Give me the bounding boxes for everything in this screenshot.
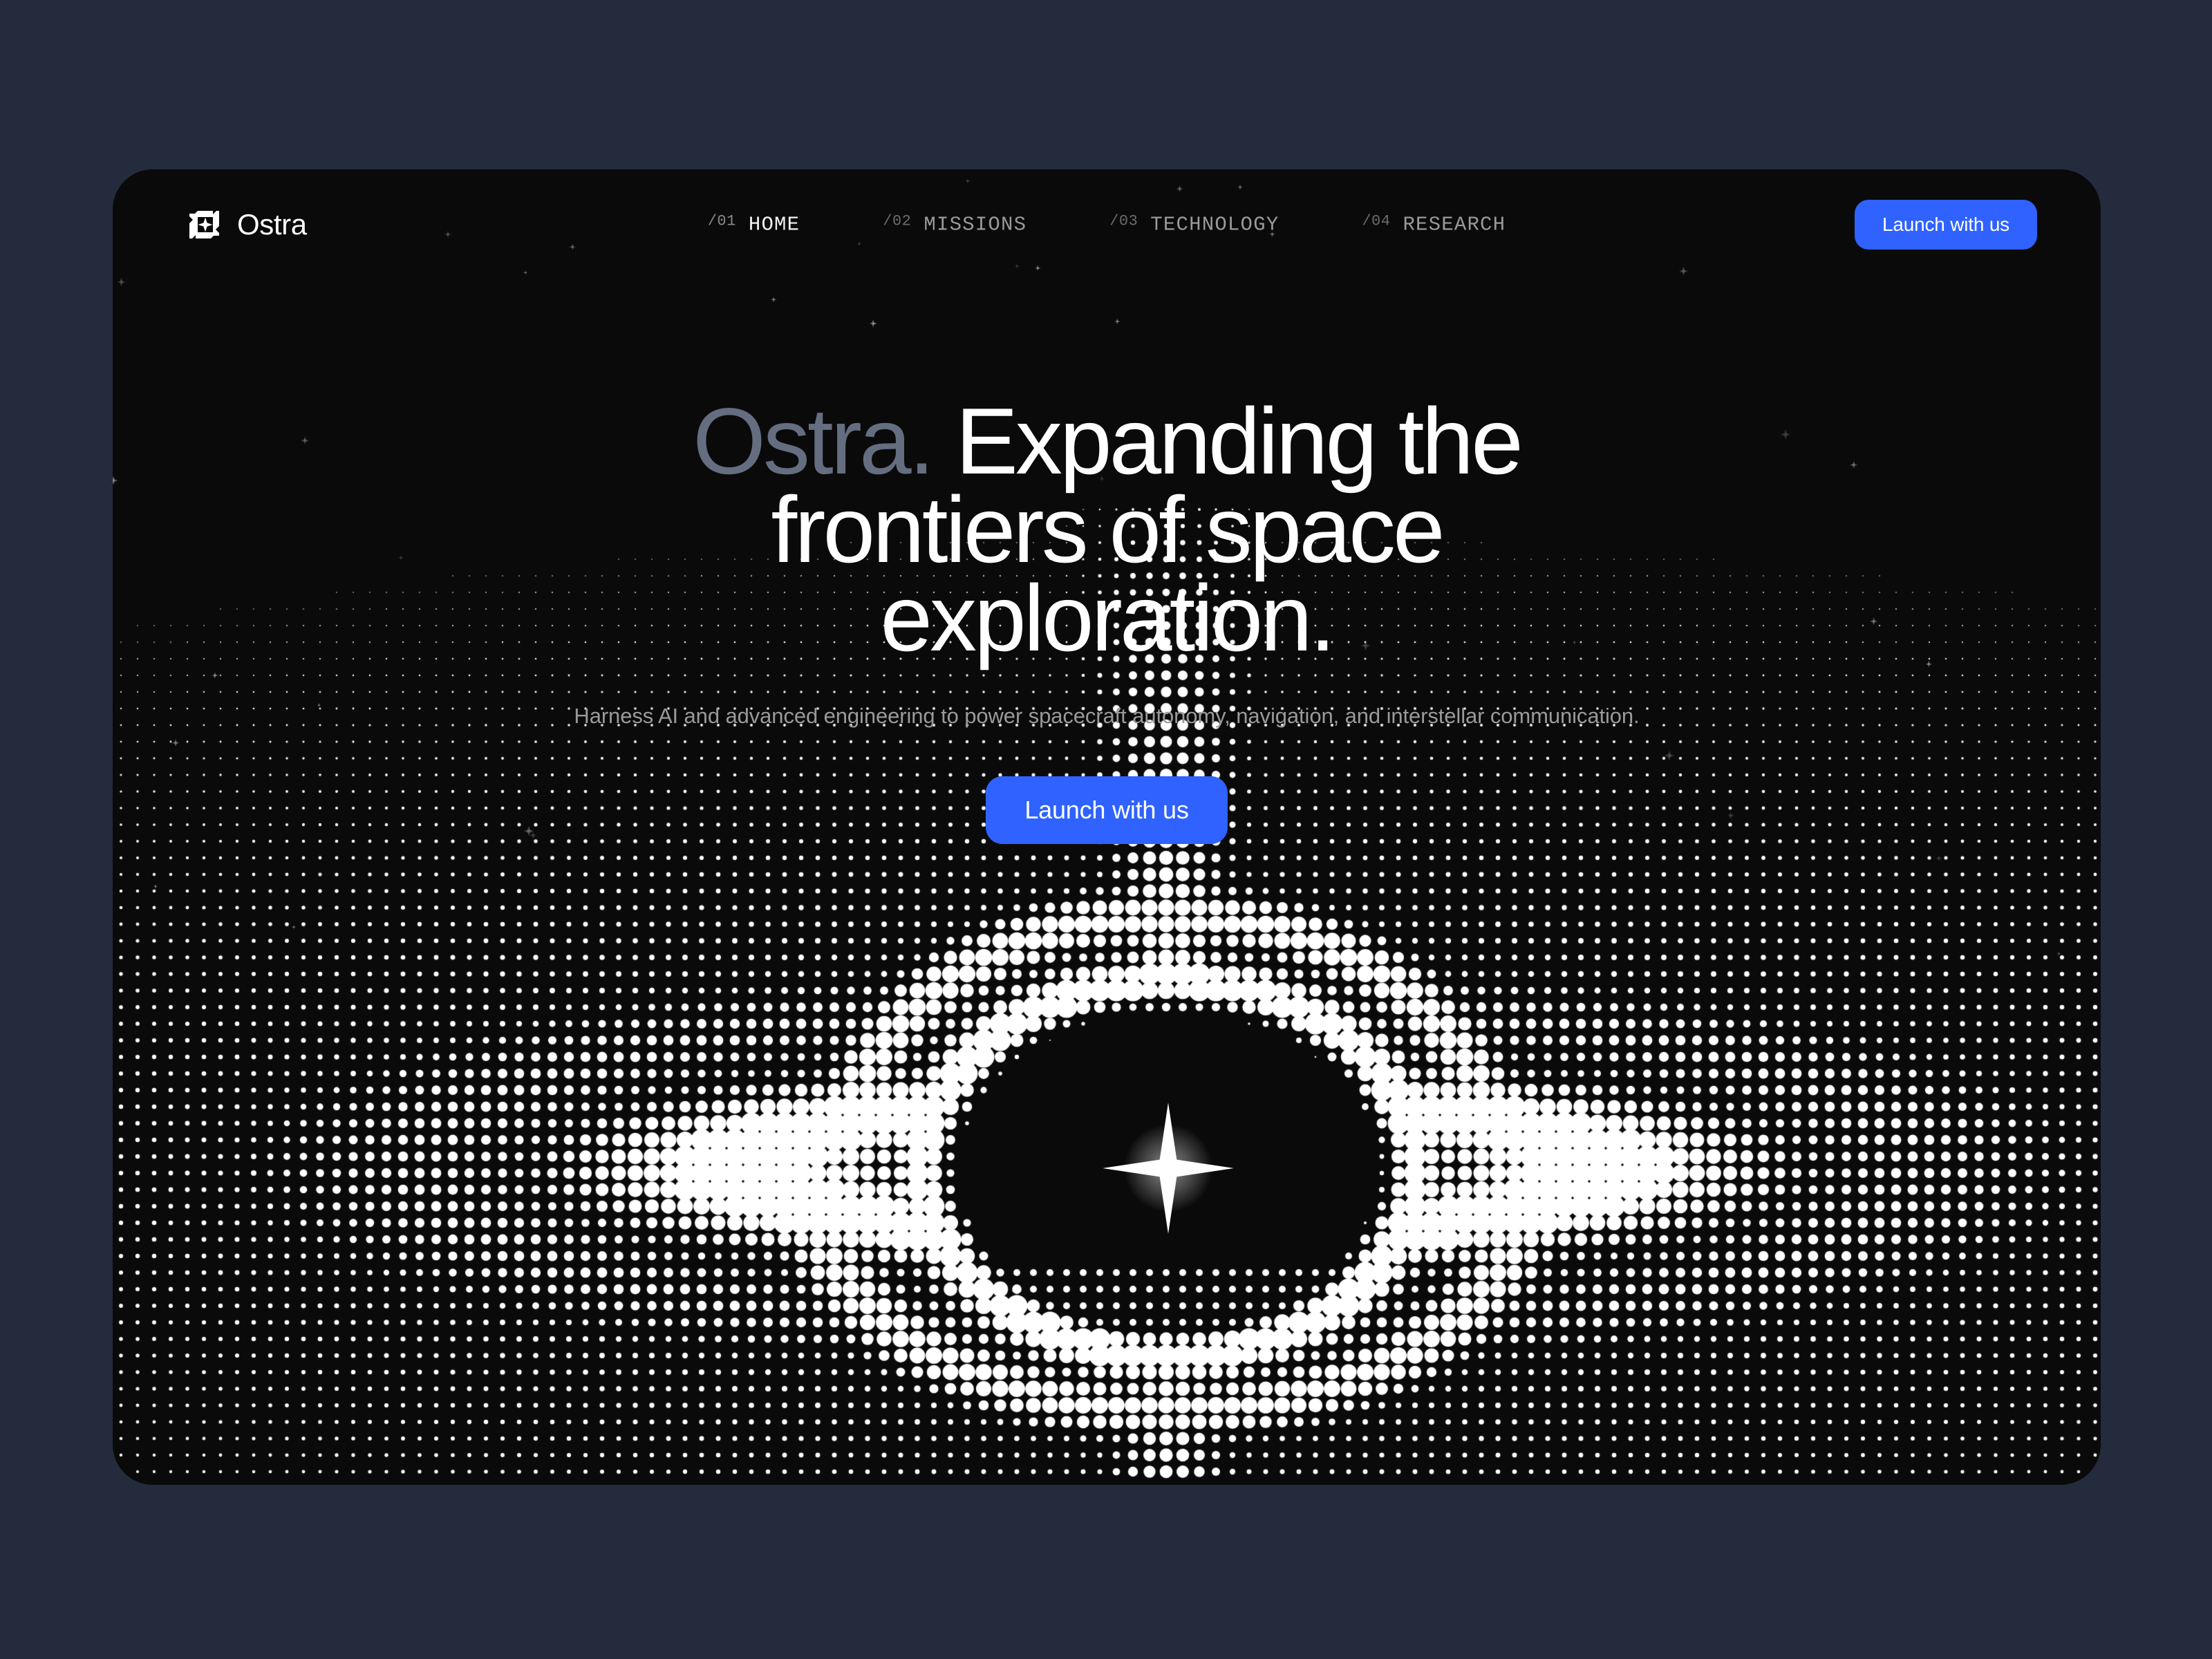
sparkle-square-logo-icon <box>189 208 222 241</box>
nav-index: /02 <box>883 213 911 230</box>
star-icon <box>210 671 220 680</box>
star-icon <box>1571 639 1578 646</box>
star-icon <box>1662 748 1677 763</box>
nav-label: HOME <box>749 214 800 236</box>
star-icon <box>868 317 879 329</box>
four-point-star-icon <box>1103 1103 1234 1234</box>
header-launch-button[interactable]: Launch with us <box>1855 200 2037 250</box>
star-glow <box>1103 1103 1234 1234</box>
hero-subtext: Harness AI and advanced engineering to p… <box>113 700 2101 733</box>
headline-rest: Expanding the frontiers of space explora… <box>771 388 1520 671</box>
star-spark <box>1103 1103 1234 1234</box>
page-title: Ostra. Expanding the frontiers of space … <box>606 397 1608 662</box>
nav-item-missions[interactable]: /02 MISSIONS <box>883 214 1027 236</box>
nav-label: RESEARCH <box>1403 214 1506 236</box>
hero-card: Ostra /01 HOME /02 MISSIONS /03 TECHNOLO… <box>113 169 2101 1485</box>
hero-launch-button[interactable]: Launch with us <box>986 776 1227 844</box>
site-header: Ostra /01 HOME /02 MISSIONS /03 TECHNOLO… <box>113 169 2101 280</box>
star-icon <box>316 702 323 709</box>
star-icon <box>1358 639 1373 653</box>
nav-index: /03 <box>1109 213 1138 230</box>
nav-item-technology[interactable]: /03 TECHNOLOGY <box>1109 214 1279 236</box>
star-icon <box>1113 317 1122 326</box>
star-icon <box>170 737 182 749</box>
nav-label: TECHNOLOGY <box>1150 214 1279 236</box>
hero-section: Ostra. Expanding the frontiers of space … <box>113 397 2101 844</box>
star-icon <box>1848 459 1859 471</box>
star-icon <box>299 434 311 447</box>
headline-brand-word: Ostra. <box>693 388 932 494</box>
star-icon <box>152 883 160 890</box>
star-icon <box>769 295 778 304</box>
star-icon <box>1933 853 1944 863</box>
nav-index: /04 <box>1362 213 1390 230</box>
star-icon <box>1924 659 1934 669</box>
main-nav: /01 HOME /02 MISSIONS /03 TECHNOLOGY /04… <box>708 214 1506 236</box>
star-icon <box>290 924 297 930</box>
nav-index: /01 <box>708 213 736 230</box>
brand-logo[interactable]: Ostra <box>189 208 307 241</box>
star-icon <box>1098 474 1106 482</box>
page-root: Ostra /01 HOME /02 MISSIONS /03 TECHNOLO… <box>0 0 2212 1659</box>
nav-item-research[interactable]: /04 RESEARCH <box>1362 214 1506 236</box>
star-icon <box>1778 427 1793 442</box>
star-icon <box>113 474 120 487</box>
nav-item-home[interactable]: /01 HOME <box>708 214 800 236</box>
star-icon <box>1868 615 1880 628</box>
star-icon <box>397 554 405 562</box>
nav-label: MISSIONS <box>924 214 1027 236</box>
star-icon <box>2055 950 2063 957</box>
brand-name: Ostra <box>237 210 307 239</box>
hero-cta-wrap: Launch with us <box>113 776 2101 844</box>
